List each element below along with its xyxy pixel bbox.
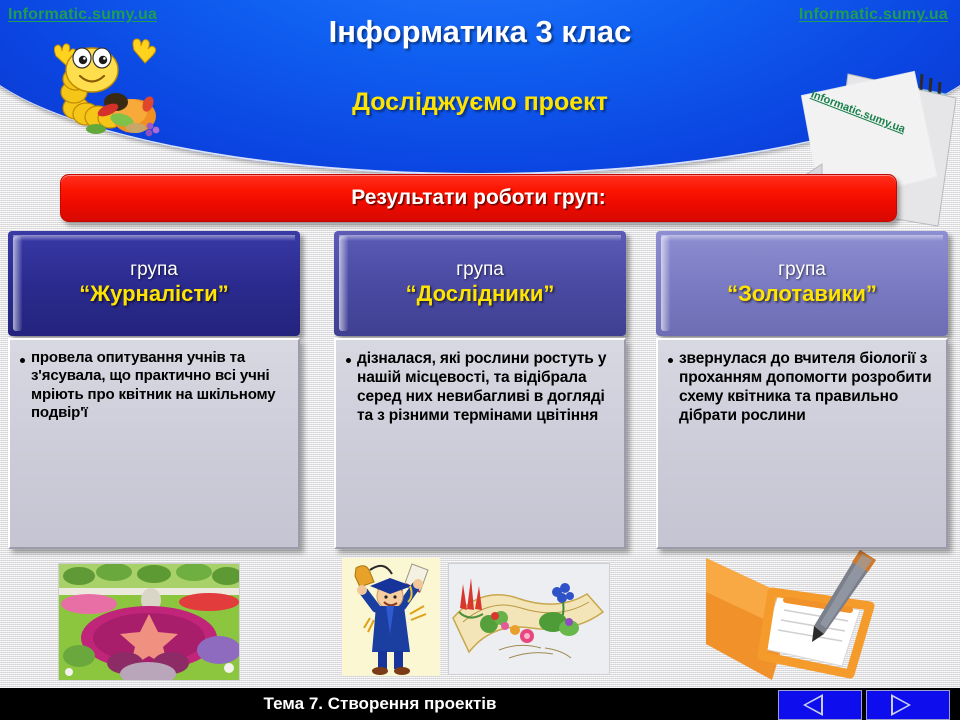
- prev-slide-button[interactable]: [778, 690, 862, 720]
- group-kicker: група: [456, 259, 504, 281]
- bullet-icon: [20, 358, 25, 363]
- bullet-icon: [668, 358, 673, 363]
- group-card-body: провела опитування учнів та з'ясувала, щ…: [8, 338, 300, 549]
- worm-mascot-icon: [30, 24, 165, 139]
- group-bullet-text: провела опитування учнів та з'ясувала, щ…: [31, 349, 290, 423]
- footer-title: Тема 7. Створення проектів: [0, 688, 760, 720]
- group-bullet-text: звернулася до вчителя біології з проханн…: [679, 349, 938, 425]
- list-item: дізналася, які рослини ростуть у нашій м…: [346, 349, 616, 425]
- graduate-boy-clipart-icon: [340, 556, 442, 678]
- arrow-left-icon: [803, 694, 838, 716]
- group-card: група “Журналісти” провела опитування уч…: [8, 231, 300, 549]
- group-bullet-text: дізналася, які рослини ростуть у нашій м…: [357, 349, 616, 425]
- bullet-icon: [346, 358, 351, 363]
- results-banner: Результати роботи груп:: [60, 174, 897, 222]
- group-card: група “Золотавики” звернулася до вчителя…: [656, 231, 948, 549]
- group-card-body: дізналася, які рослини ростуть у нашій м…: [334, 338, 626, 549]
- group-card: група “Дослідники” дізналася, які рослин…: [334, 231, 626, 549]
- group-card-header: група “Журналісти”: [8, 231, 300, 336]
- group-name: “Золотавики”: [727, 281, 877, 307]
- group-kicker: група: [778, 259, 826, 281]
- list-item: провела опитування учнів та з'ясувала, щ…: [20, 349, 290, 423]
- group-card-header: група “Дослідники”: [334, 231, 626, 336]
- group-card-body: звернулася до вчителя біології з проханн…: [656, 338, 948, 549]
- group-name: “Журналісти”: [79, 281, 228, 307]
- group-kicker: група: [130, 259, 178, 281]
- footer-bar: Тема 7. Створення проектів: [0, 688, 960, 720]
- arrow-right-icon: [891, 694, 926, 716]
- group-cards: група “Журналісти” провела опитування уч…: [0, 231, 960, 561]
- slide-root: Informatic.sumy.ua Informatic.sumy.ua Ін…: [0, 0, 960, 720]
- folder-with-pen-icon: [700, 548, 900, 683]
- group-name: “Дослідники”: [406, 281, 555, 307]
- results-banner-label: Результати роботи груп:: [351, 186, 606, 210]
- flowerbed-sketch-photo: [448, 563, 610, 675]
- garden-photo: [58, 563, 240, 681]
- list-item: звернулася до вчителя біології з проханн…: [668, 349, 938, 425]
- next-slide-button[interactable]: [866, 690, 950, 720]
